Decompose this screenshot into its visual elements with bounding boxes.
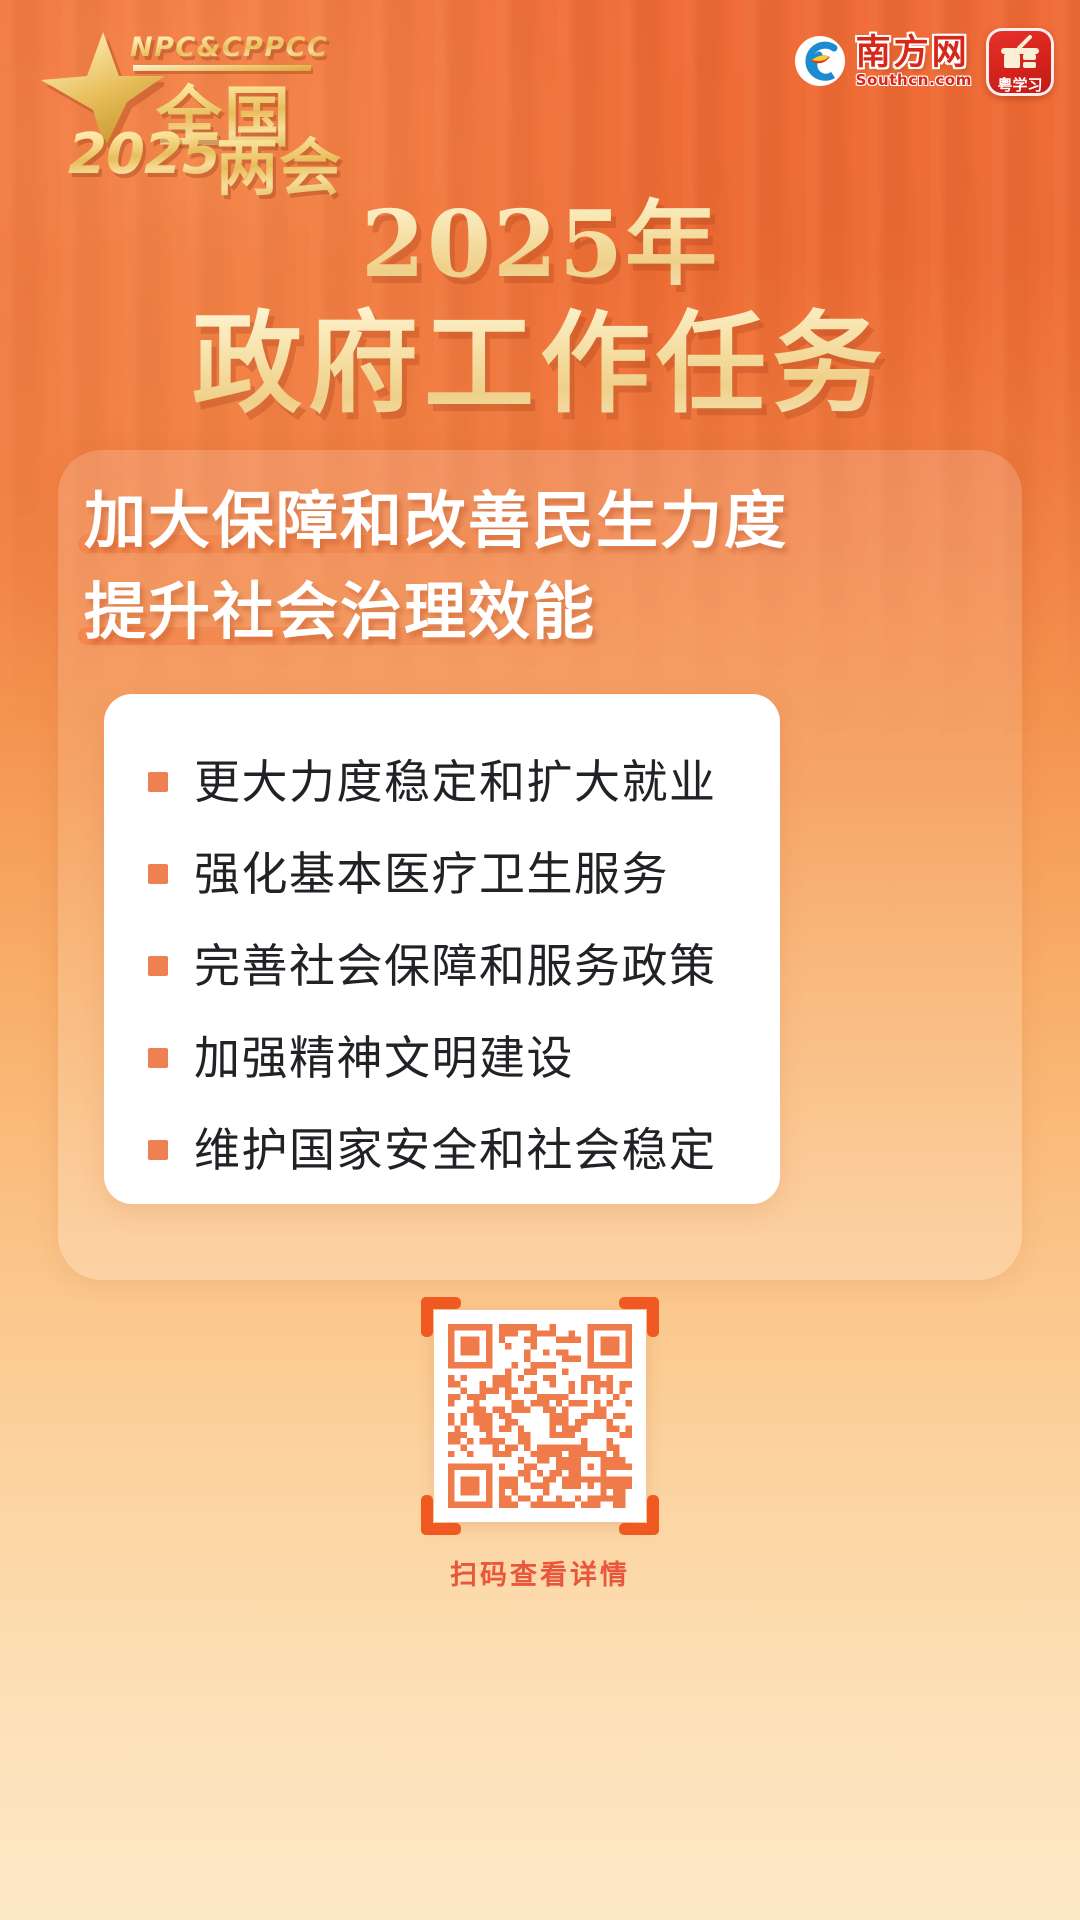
bullet-square-icon [148, 956, 168, 976]
brand-sessions-text: 两会 [216, 117, 342, 207]
southcn-logo[interactable]: 南方网 Southcn.com [793, 30, 972, 92]
task-list-card: 更大力度稳定和扩大就业 强化基本医疗卫生服务 完善社会保障和服务政策 加强精神文… [104, 694, 780, 1204]
heading-text: 提升社会治理效能 [84, 575, 596, 648]
list-item: 加强精神文明建设 [148, 1012, 780, 1104]
bullet-square-icon [148, 1048, 168, 1068]
bullet-square-icon [148, 1140, 168, 1160]
book-radio-icon [999, 35, 1041, 71]
poster-title: 2025年 政府工作任务 [0, 196, 1080, 428]
heading-text: 加大保障和改善民生力度 [84, 484, 788, 557]
list-item-label: 强化基本医疗卫生服务 [194, 849, 669, 900]
southcn-chinese-name: 南方网 [856, 35, 972, 70]
bullet-square-icon [148, 772, 168, 792]
section-headings: 加大保障和改善民生力度 提升社会治理效能 [84, 486, 1004, 669]
list-item: 维护国家安全和社会稳定 [148, 1104, 780, 1196]
brand-english-abbr: NPC&CPPCC [130, 32, 328, 63]
qr-section: 扫码查看详情 [0, 1310, 1080, 1592]
poster-header: NPC&CPPCC 全国 2025 两会 南方网 Southcn.com [0, 0, 1080, 200]
southcn-wordmark: 南方网 Southcn.com [856, 35, 972, 88]
list-item: 更大力度稳定和扩大就业 [148, 736, 780, 828]
section-heading-2: 提升社会治理效能 [84, 577, 596, 646]
bullet-square-icon [148, 864, 168, 884]
list-item-label: 完善社会保障和服务政策 [194, 941, 717, 992]
yuexuexi-app-logo[interactable]: 粤学习 [986, 28, 1054, 96]
qr-code-frame[interactable] [434, 1310, 646, 1522]
npc-cppcc-brand-lockup: NPC&CPPCC 全国 2025 两会 [38, 12, 378, 187]
qr-code-icon [448, 1324, 632, 1508]
list-item-label: 加强精神文明建设 [194, 1033, 574, 1084]
qr-caption: 扫码查看详情 [0, 1553, 1080, 1592]
list-item: 强化基本医疗卫生服务 [148, 828, 780, 920]
list-item-label: 更大力度稳定和扩大就业 [194, 757, 717, 808]
title-year-line: 2025年 [0, 196, 1080, 293]
section-heading-1: 加大保障和改善民生力度 [84, 486, 788, 555]
list-item-label: 维护国家安全和社会稳定 [194, 1125, 717, 1176]
title-main-line: 政府工作任务 [0, 299, 1080, 429]
brand-year-text: 2025 [68, 122, 220, 187]
yuexuexi-label: 粤学习 [986, 78, 1054, 93]
southcn-domain: Southcn.com [856, 73, 972, 88]
southcn-swirl-icon [793, 34, 847, 88]
list-item: 完善社会保障和服务政策 [148, 920, 780, 1012]
poster-root: NPC&CPPCC 全国 2025 两会 南方网 Southcn.com [0, 0, 1080, 1920]
